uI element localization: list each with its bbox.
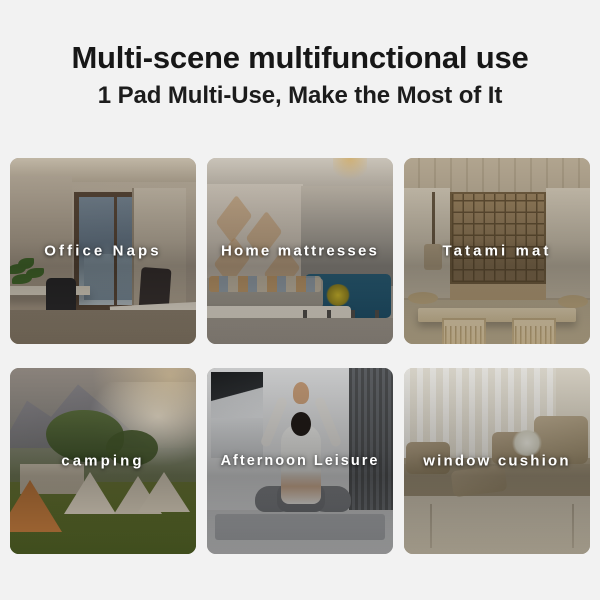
scene-card-afternoon-leisure[interactable]: Afternoon Leisure	[207, 368, 393, 554]
scene-card-office-naps[interactable]: Office Naps	[10, 158, 196, 344]
scene-card-grid: Office Naps H	[10, 158, 590, 554]
scene-card-label: Office Naps	[10, 243, 196, 260]
scene-card-label: Afternoon Leisure	[207, 453, 393, 469]
scene-card-label: Home mattresses	[207, 243, 393, 260]
promo-page: Multi-scene multifunctional use 1 Pad Mu…	[0, 0, 600, 600]
scene-card-tatami-mat[interactable]: Tatami mat	[404, 158, 590, 344]
page-title: Multi-scene multifunctional use	[0, 40, 600, 76]
scene-card-label: Tatami mat	[404, 243, 590, 260]
page-subtitle: 1 Pad Multi-Use, Make the Most of It	[0, 82, 600, 111]
scene-card-home-mattresses[interactable]: Home mattresses	[207, 158, 393, 344]
scene-card-label: camping	[10, 453, 196, 470]
scene-card-camping[interactable]: camping	[10, 368, 196, 554]
scene-card-label: window cushion	[404, 453, 590, 470]
scene-card-window-cushion[interactable]: window cushion	[404, 368, 590, 554]
page-header: Multi-scene multifunctional use 1 Pad Mu…	[0, 0, 600, 110]
